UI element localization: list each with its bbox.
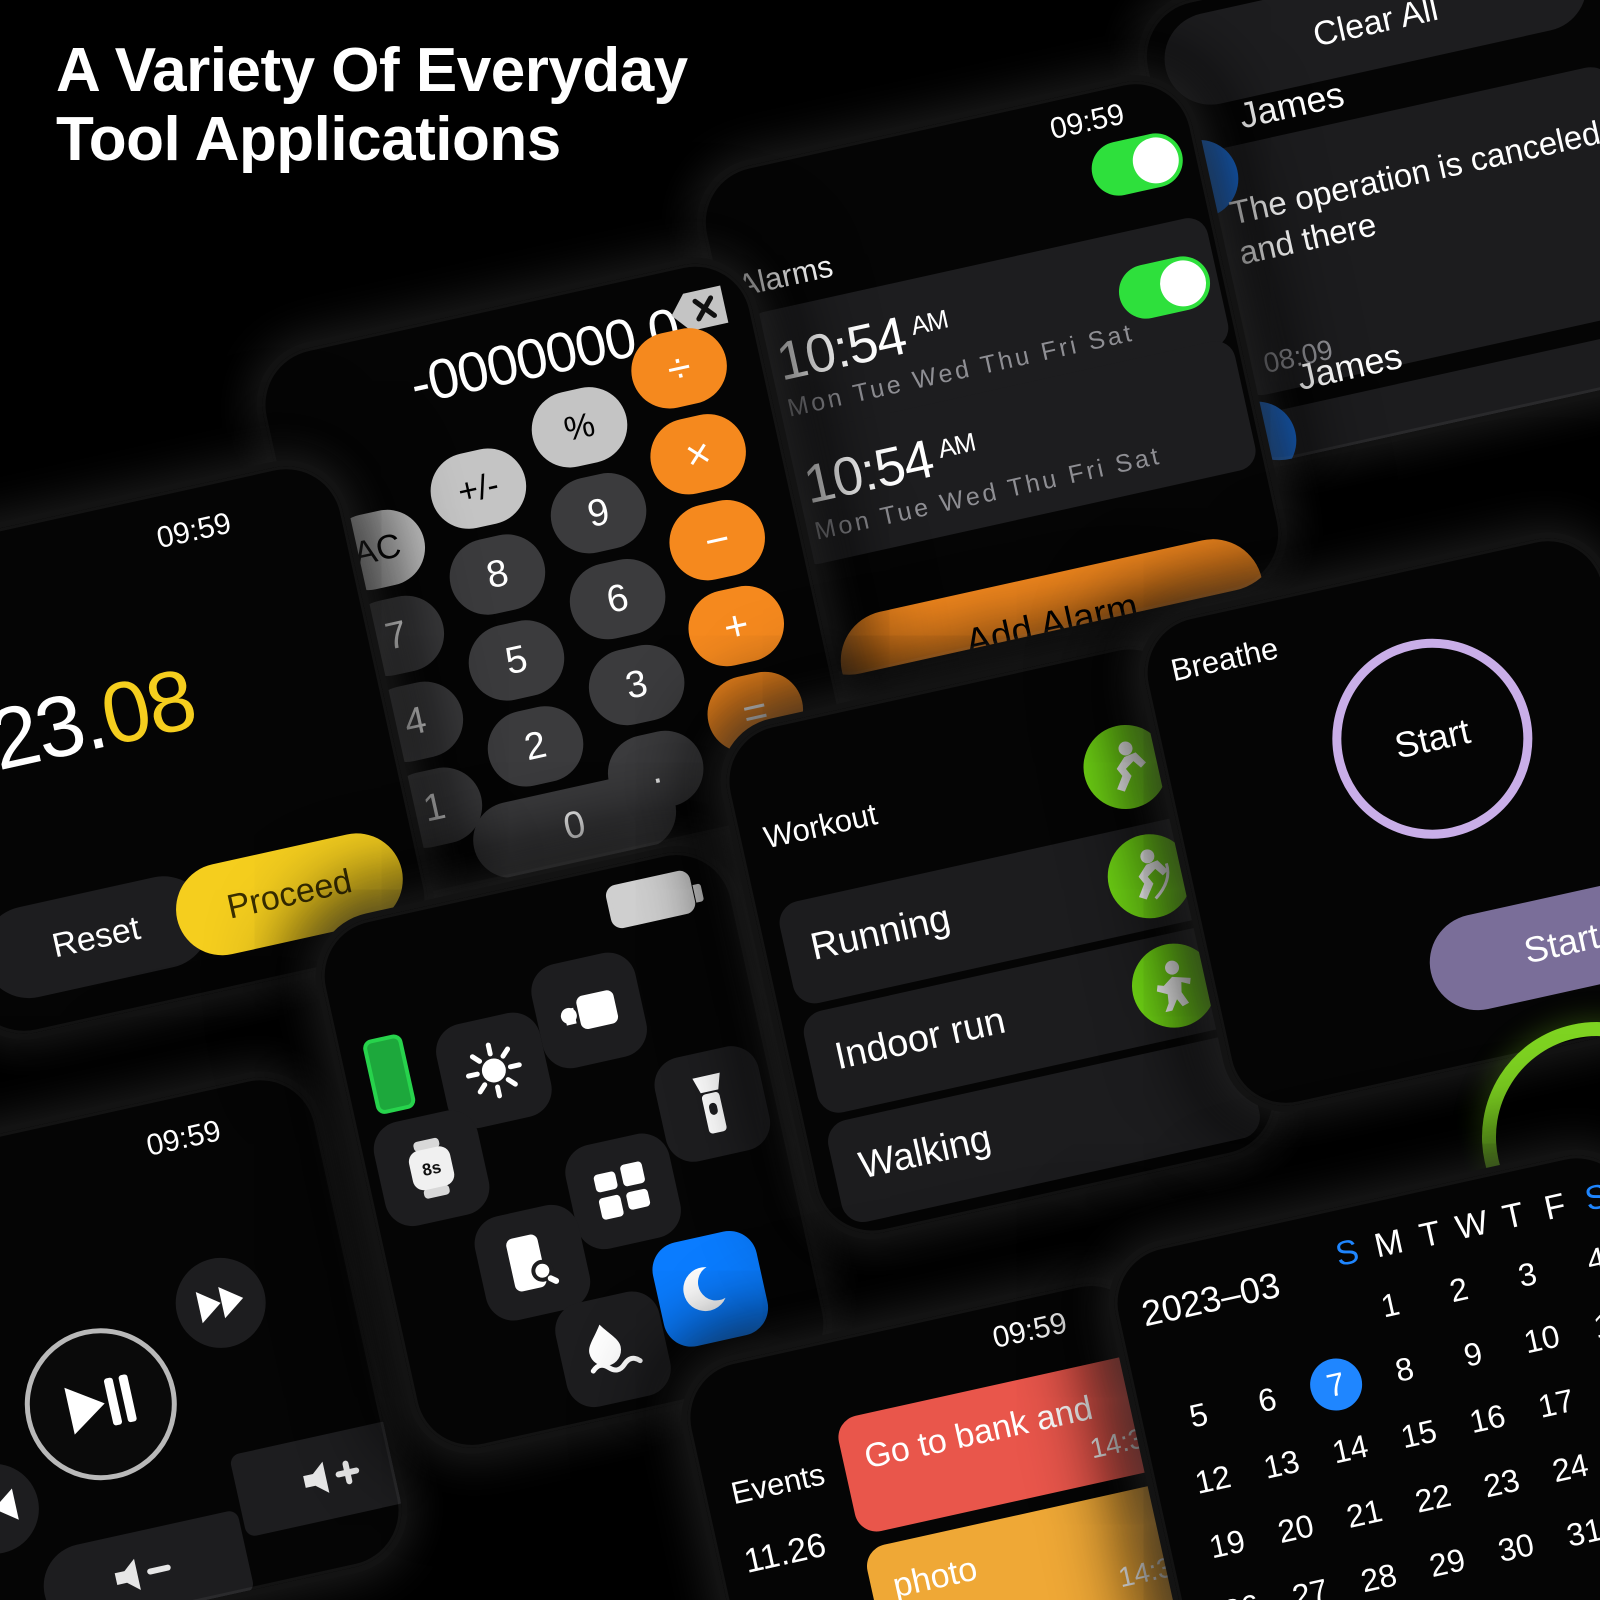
events-title: Events bbox=[728, 1456, 828, 1512]
calendar-day[interactable]: 17 bbox=[1516, 1370, 1596, 1436]
next-button[interactable] bbox=[167, 1249, 274, 1356]
previous-icon bbox=[0, 1486, 21, 1532]
calc-key-multiply[interactable]: × bbox=[643, 407, 753, 502]
calendar-day[interactable]: 24 bbox=[1530, 1435, 1600, 1501]
calc-key-5[interactable]: 5 bbox=[461, 613, 571, 708]
volume-down-button[interactable] bbox=[36, 1509, 255, 1600]
calc-key-percent[interactable]: % bbox=[524, 380, 634, 475]
previous-button[interactable] bbox=[0, 1455, 48, 1562]
calendar-day[interactable]: 16 bbox=[1447, 1386, 1527, 1452]
calendar-day[interactable]: 30 bbox=[1476, 1514, 1556, 1580]
calc-key-plus[interactable]: + bbox=[681, 579, 791, 674]
calendar-day[interactable]: 2 bbox=[1419, 1257, 1499, 1323]
event-title: Go to bank and bbox=[861, 1389, 1096, 1477]
calendar-day[interactable]: 5 bbox=[1159, 1382, 1239, 1448]
calendar-day[interactable]: 15 bbox=[1379, 1401, 1459, 1467]
volume-up-button[interactable] bbox=[229, 1413, 413, 1537]
calc-key-8[interactable]: 8 bbox=[442, 527, 552, 622]
poster-canvas: A Variety Of Everyday Tool Applications … bbox=[0, 0, 1600, 1600]
calendar-day[interactable]: 27 bbox=[1270, 1560, 1350, 1600]
calendar-day[interactable]: 10 bbox=[1502, 1306, 1582, 1372]
calendar-day[interactable]: 6 bbox=[1227, 1367, 1307, 1433]
calendar-day[interactable]: 19 bbox=[1187, 1511, 1267, 1577]
calendar-day[interactable]: 1 bbox=[1350, 1272, 1430, 1338]
workout-item-label: Running bbox=[807, 897, 955, 970]
play-pause-button[interactable] bbox=[10, 1314, 191, 1495]
calc-key-sign[interactable]: +/- bbox=[423, 441, 533, 536]
calendar-day[interactable]: 29 bbox=[1407, 1530, 1487, 1596]
status-clock: 09:59 bbox=[143, 1114, 224, 1163]
play-pause-icon bbox=[59, 1367, 142, 1441]
workout-item-label: Walking bbox=[855, 1117, 995, 1188]
alarms-title: Alarms bbox=[734, 248, 836, 304]
stopwatch-time: 0:23.08 bbox=[0, 614, 366, 806]
calendar-watch-card: 2023–03 SMTWTFS 123456789101112131415161… bbox=[1103, 1144, 1600, 1600]
calendar-day[interactable]: 13 bbox=[1242, 1431, 1322, 1497]
alarm-ampm: AM bbox=[935, 427, 978, 464]
workout-item-label: Indoor run bbox=[831, 1000, 1009, 1079]
battery-icon bbox=[604, 869, 697, 931]
do-not-disturb-icon[interactable] bbox=[647, 1226, 773, 1352]
calendar-day-empty bbox=[1144, 1318, 1224, 1384]
calendar-day[interactable]: 3 bbox=[1487, 1242, 1567, 1308]
volume-up-icon bbox=[294, 1448, 373, 1503]
calendar-day[interactable]: 8 bbox=[1365, 1336, 1445, 1402]
calendar-day[interactable]: 21 bbox=[1324, 1480, 1404, 1546]
notification-body: The operation is canceled, and there bbox=[1226, 110, 1600, 274]
music-watch-card: 09:59 ic bbox=[0, 1066, 413, 1600]
calendar-day[interactable]: 20 bbox=[1256, 1496, 1336, 1562]
stopwatch-time-fraction: 08 bbox=[93, 651, 203, 765]
battery-level-indicator[interactable] bbox=[361, 1033, 417, 1116]
alarm-ampm: AM bbox=[908, 304, 951, 341]
calendar-day[interactable]: 12 bbox=[1173, 1446, 1253, 1512]
calendar-day[interactable]: 9 bbox=[1433, 1321, 1513, 1387]
calendar-day[interactable]: 7 bbox=[1305, 1354, 1367, 1416]
calendar-day[interactable]: 26 bbox=[1202, 1575, 1282, 1600]
calc-key-3[interactable]: 3 bbox=[582, 638, 692, 733]
event-title: photo bbox=[889, 1550, 981, 1600]
status-clock: 09:59 bbox=[154, 507, 235, 556]
breathe-start-ring[interactable]: Start bbox=[1313, 619, 1552, 858]
status-clock: 09:59 bbox=[990, 1306, 1071, 1355]
calendar-grid: SMTWTFS 12345678910111213141516171819202… bbox=[1133, 1175, 1600, 1600]
volume-down-icon bbox=[106, 1545, 185, 1600]
calendar-day[interactable]: 28 bbox=[1339, 1545, 1419, 1600]
status-clock: 09:59 bbox=[1047, 98, 1128, 147]
calc-key-minus[interactable]: − bbox=[662, 493, 772, 588]
svg-text:8s: 8s bbox=[420, 1157, 443, 1180]
calc-key-9[interactable]: 9 bbox=[543, 466, 653, 561]
alarm-toggle[interactable] bbox=[1086, 128, 1188, 201]
next-icon bbox=[193, 1280, 248, 1326]
water-lock-icon[interactable] bbox=[550, 1286, 676, 1412]
calendar-day-empty bbox=[1213, 1302, 1293, 1368]
calendar-day[interactable]: 22 bbox=[1393, 1465, 1473, 1531]
toggle-knob bbox=[1128, 133, 1183, 188]
calc-key-2[interactable]: 2 bbox=[480, 699, 590, 794]
breathe-start-button[interactable]: Start bbox=[1421, 868, 1600, 1020]
camera-remote-icon[interactable] bbox=[526, 947, 652, 1073]
calc-key-6[interactable]: 6 bbox=[563, 552, 673, 647]
calendar-day[interactable]: 31 bbox=[1545, 1499, 1600, 1565]
calendar-weeks: 1234567891011121314151617181920212223242… bbox=[1144, 1226, 1600, 1600]
calendar-day[interactable]: 23 bbox=[1462, 1450, 1542, 1516]
headline-line-1: A Variety Of Everyday bbox=[56, 36, 688, 105]
calendar-day-empty bbox=[1282, 1287, 1362, 1353]
flashlight-icon[interactable] bbox=[649, 1041, 775, 1167]
calendar-day[interactable]: 14 bbox=[1310, 1416, 1390, 1482]
events-date: 11.26 bbox=[741, 1526, 830, 1582]
breathe-title: Breathe bbox=[1168, 630, 1282, 689]
